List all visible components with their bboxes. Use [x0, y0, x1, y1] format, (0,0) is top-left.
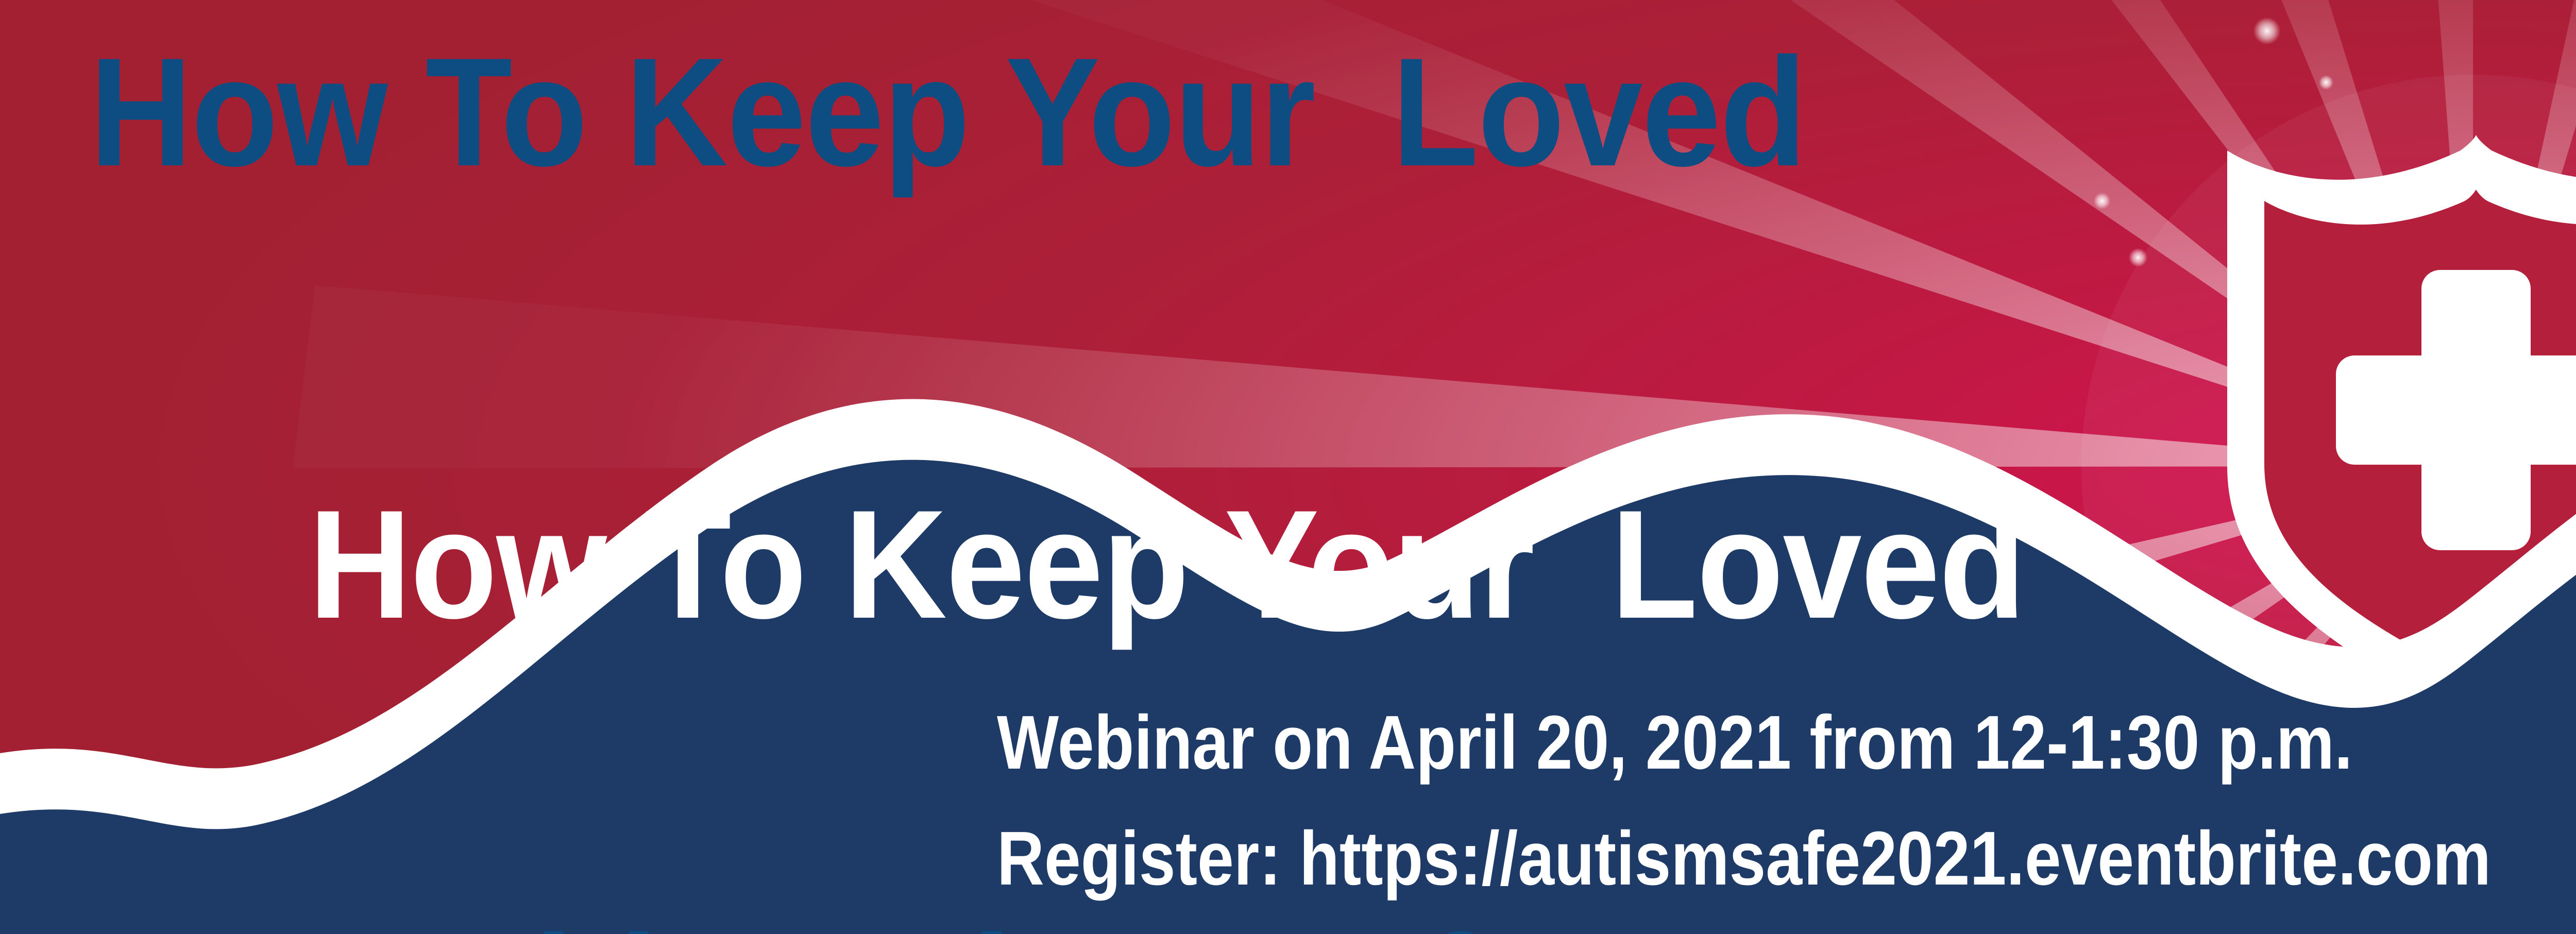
webinar-banner: How To Keep Your Loved How To Keep Your …	[0, 0, 2576, 934]
wave-divider	[0, 0, 2576, 934]
wave-navy-fill	[0, 460, 2576, 934]
